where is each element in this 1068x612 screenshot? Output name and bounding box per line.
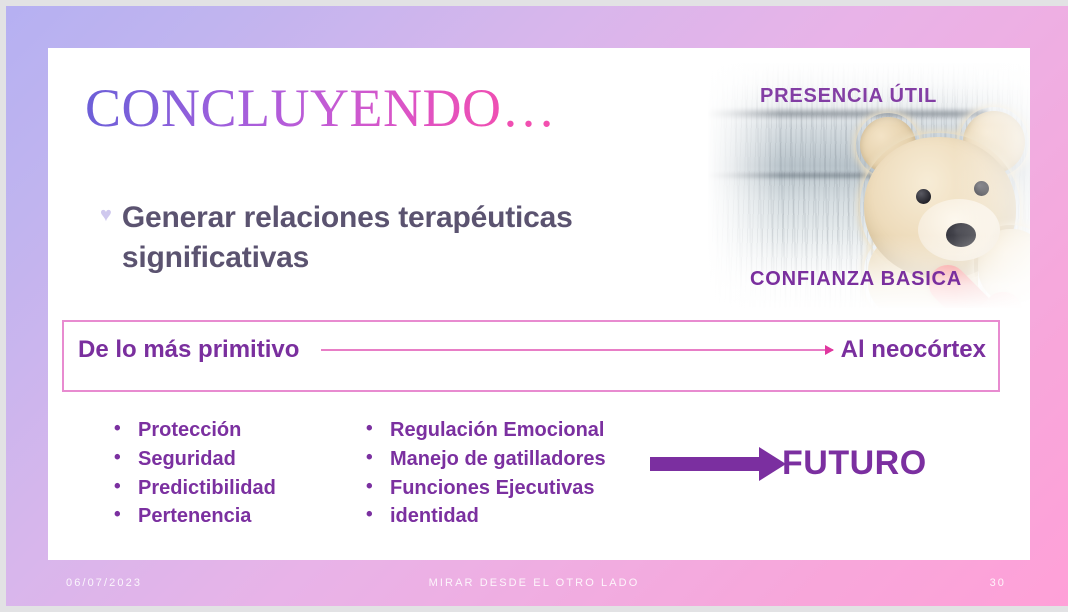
picture-caption-bottom: CONFIANZA BASICA [750,268,962,291]
headline-row: ♥ Generar relaciones terapéuticas signif… [100,198,700,278]
page-title: CONCLUYENDO… [85,81,556,135]
slide-content-card: CONCLUYENDO… ♥ Generar relaciones terapé… [48,48,1030,560]
list-item: Pertenencia [110,502,276,531]
slide: CONCLUYENDO… ♥ Generar relaciones terapé… [0,0,1068,612]
bear-eye-left-icon [916,189,931,204]
future-callout: FUTURO [650,444,927,483]
band-label-left: De lo más primitivo [78,338,299,362]
list-item: Manejo de gatilladores [362,445,606,474]
band-label-right: Al neocórtex [841,338,986,362]
bullet-column-2: Regulación Emocional Manejo de gatillado… [362,416,606,531]
list-item: Predictibilidad [110,474,276,503]
primitive-to-neocortex-band: De lo más primitivo Al neocórtex [62,320,1000,392]
list-item: Seguridad [110,445,276,474]
right-arrow-icon [321,349,832,351]
heart-bullet-icon: ♥ [100,198,112,232]
teddy-bear-picture: PRESENCIA ÚTIL CONFIANZA BASICA [708,63,1030,308]
bear-nose-icon [946,223,976,247]
footer-title: MIRAR DESDE EL OTRO LADO [0,577,1068,589]
bullet-list-2: Regulación Emocional Manejo de gatillado… [362,416,606,531]
list-item: identidad [362,502,606,531]
footer-page-number: 30 [990,577,1006,589]
slide-footer: 06/07/2023 MIRAR DESDE EL OTRO LADO 30 [0,560,1068,606]
picture-caption-top: PRESENCIA ÚTIL [760,85,937,108]
headline-text: Generar relaciones terapéuticas signific… [122,198,700,278]
bullet-list-1: Protección Seguridad Predictibilidad Per… [110,416,276,531]
headline-block: ♥ Generar relaciones terapéuticas signif… [100,198,700,278]
list-item: Regulación Emocional [362,416,606,445]
list-item: Protección [110,416,276,445]
list-item: Funciones Ejecutivas [362,474,606,503]
bullet-column-1: Protección Seguridad Predictibilidad Per… [110,416,276,531]
future-label: FUTURO [782,444,927,483]
bear-eye-right-icon [974,181,989,196]
block-right-arrow-icon [650,457,760,471]
